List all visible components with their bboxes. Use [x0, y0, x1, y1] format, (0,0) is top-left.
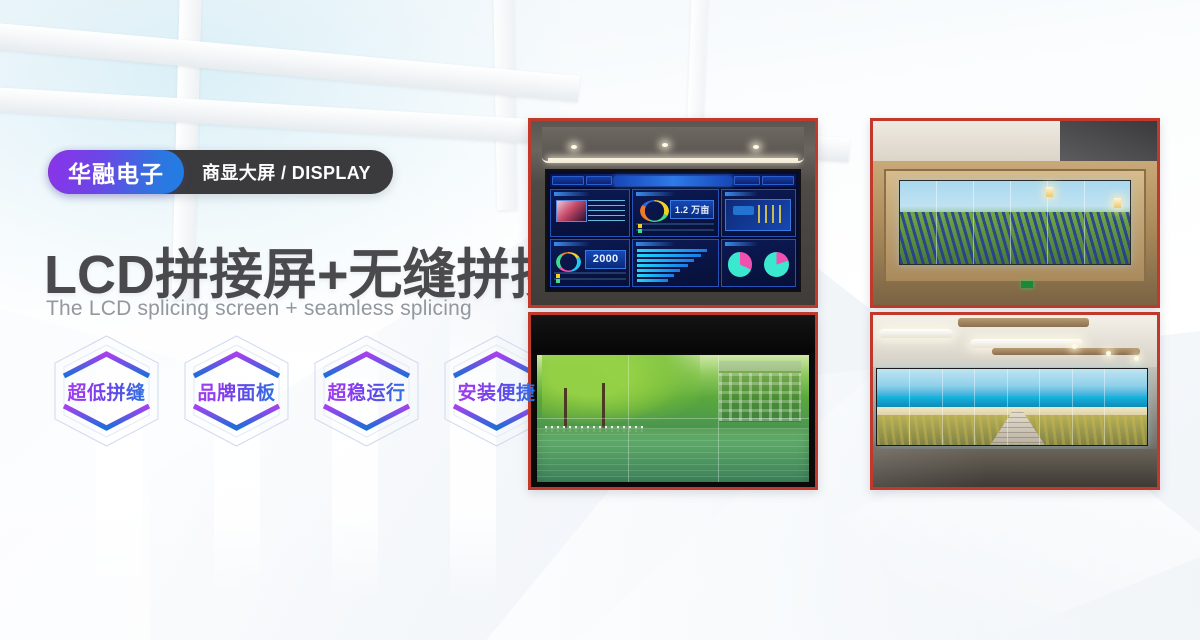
- cove-light: [879, 329, 953, 338]
- photo-scene: [531, 315, 815, 487]
- dashboard-header: [550, 174, 796, 188]
- calendar-header: [719, 361, 801, 371]
- card-header: [636, 242, 675, 246]
- panel-seam: [1072, 369, 1073, 444]
- donut-chart: [556, 252, 581, 272]
- dashboard-title-bar: [614, 176, 732, 186]
- pie-chart: [728, 252, 753, 277]
- panel-seam: [1084, 181, 1085, 264]
- feature-label: 超稳运行: [327, 378, 405, 405]
- downlight: [1106, 351, 1111, 356]
- ceiling-dark-section: [1060, 121, 1157, 165]
- feature-label: 安装便捷: [457, 378, 535, 405]
- panel-seam: [1104, 369, 1105, 444]
- left-content: 华融电子 商显大屏 / DISPLAY LCD拼接屏+无缝拼接 The LCD …: [0, 0, 520, 640]
- cove-light: [970, 339, 1084, 348]
- dashboard-row: 2000: [550, 239, 796, 287]
- metric-count-value: 2000: [585, 250, 625, 268]
- panel-seam: [973, 181, 974, 264]
- header-tag: [552, 176, 583, 184]
- text-lines: [588, 200, 625, 224]
- panel-seam: [942, 369, 943, 444]
- dashboard-body: 1.2 万亩 2000: [550, 189, 796, 287]
- bar: [637, 254, 701, 257]
- chart-legend: [636, 223, 714, 235]
- ceiling-light-strip: [548, 158, 798, 161]
- photo-scene: 1.2 万亩 2000: [531, 121, 815, 305]
- calendar-grid: [719, 373, 801, 421]
- card-header: [554, 192, 590, 196]
- feature-badge-ultra-narrow-bezel: 超低拼缝: [48, 332, 165, 450]
- dashboard-card-overview: [550, 189, 630, 237]
- thumbnail: [556, 200, 587, 222]
- exit-sign: [1021, 281, 1033, 288]
- donut-chart: [640, 200, 669, 222]
- feature-label: 品牌面板: [197, 378, 275, 405]
- calendar-overlay: [719, 361, 801, 422]
- lobby-floor: [873, 449, 1157, 487]
- dashboard-screen: 1.2 万亩 2000: [545, 169, 801, 292]
- process-flow-diagram: [725, 199, 791, 231]
- header-tag: [734, 176, 761, 184]
- bar: [637, 259, 693, 262]
- card-header: [725, 242, 759, 246]
- dashboard-card-distribution: 2000: [550, 239, 630, 287]
- downlight: [753, 145, 759, 149]
- bar-chart: [637, 249, 713, 283]
- bar: [637, 279, 668, 282]
- ceiling-beam: [958, 318, 1089, 327]
- feature-badge-list: 超低拼缝 品牌面板 超稳运行: [48, 332, 555, 450]
- promo-banner: 华融电子 商显大屏 / DISPLAY LCD拼接屏+无缝拼接 The LCD …: [0, 0, 1200, 640]
- product-category-label: 商显大屏 / DISPLAY: [184, 150, 393, 194]
- background-beam-vertical-3: [687, 0, 709, 130]
- brand-badge: 华融电子 商显大屏 / DISPLAY: [48, 150, 393, 194]
- ceiling-beam: [992, 348, 1140, 355]
- product-photo-grid: 1.2 万亩 2000: [528, 118, 1166, 490]
- photo-scene: [873, 121, 1157, 305]
- card-header: [725, 192, 759, 196]
- solar-panel-field-image: [900, 212, 1131, 263]
- feature-badge-stable-operation: 超稳运行: [308, 332, 425, 450]
- dashboard-card-flow-map: [721, 189, 796, 237]
- panel-seam: [1007, 369, 1008, 444]
- panel-seam: [909, 369, 910, 444]
- downlight: [662, 143, 668, 147]
- feature-badge-brand-panel: 品牌面板: [178, 332, 295, 450]
- dashboard-card-pie-stats: [721, 239, 796, 287]
- header-tag: [586, 176, 613, 184]
- panel-seam: [936, 181, 937, 264]
- dashboard-card-area-stats: 1.2 万亩: [632, 189, 719, 237]
- tree-trunk: [602, 383, 605, 431]
- sea-image: [877, 396, 1148, 407]
- lake-water: [537, 428, 810, 481]
- downlight: [571, 145, 577, 149]
- page-subtitle: The LCD splicing screen + seamless splic…: [46, 297, 472, 321]
- metric-area-value: 1.2 万亩: [670, 200, 714, 218]
- bar: [637, 249, 707, 252]
- wall-sconce: [1046, 187, 1053, 197]
- brand-name: 华融电子: [48, 150, 184, 194]
- photo-scene: [873, 315, 1157, 487]
- panel-seam: [974, 369, 975, 444]
- chart-legend: [554, 272, 626, 284]
- ceiling-dark: [531, 315, 815, 353]
- video-wall-screen: [876, 368, 1149, 445]
- pie-chart-group: [722, 249, 795, 281]
- photo-beach-boardwalk-video-wall[interactable]: [870, 312, 1160, 490]
- bar: [637, 269, 680, 272]
- photo-willow-lake-video-wall[interactable]: [528, 312, 818, 490]
- panel-seam: [1039, 369, 1040, 444]
- dashboard-card-ranking: [632, 239, 719, 287]
- video-wall-screen: [899, 180, 1132, 265]
- photo-solar-farm-video-wall[interactable]: [870, 118, 1160, 308]
- pie-chart: [764, 252, 789, 277]
- header-tag: [762, 176, 793, 184]
- bar: [637, 274, 674, 277]
- dashboard-row: 1.2 万亩: [550, 189, 796, 237]
- card-header: [554, 242, 590, 246]
- photo-dashboard-video-wall[interactable]: 1.2 万亩 2000: [528, 118, 818, 308]
- tree-trunk: [564, 388, 567, 431]
- panel-seam: [537, 418, 810, 419]
- panel-seam: [1010, 181, 1011, 264]
- card-header: [636, 192, 675, 196]
- wall-sconce: [1114, 198, 1121, 208]
- feature-label: 超低拼缝: [67, 378, 145, 405]
- bar: [637, 264, 687, 267]
